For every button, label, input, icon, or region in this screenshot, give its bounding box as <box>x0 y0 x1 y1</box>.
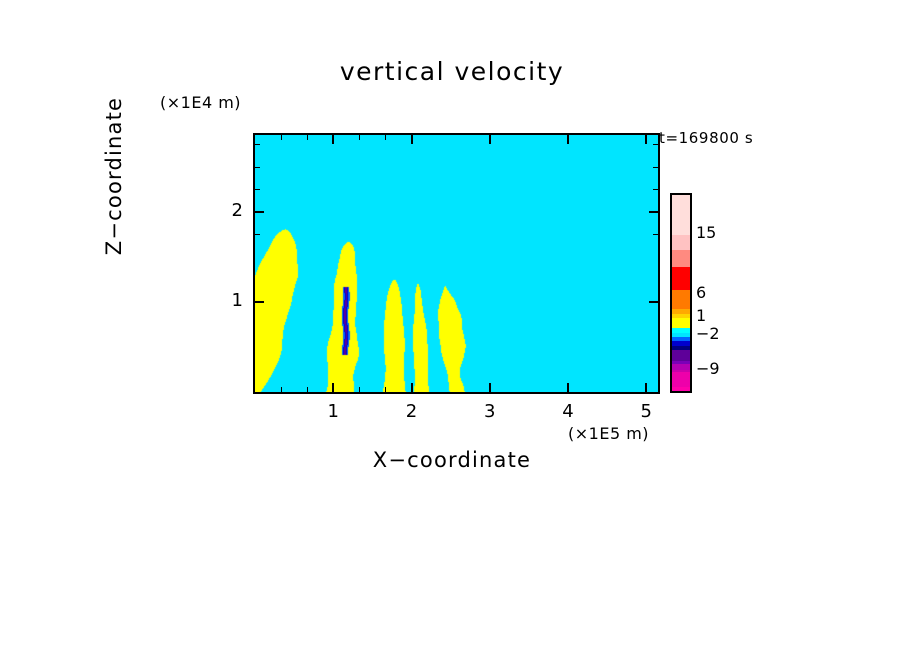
colorbar-band <box>672 372 690 387</box>
tick-mark <box>359 135 360 140</box>
colorbar-tick-label: 6 <box>696 283 706 302</box>
colorbar-band <box>672 250 690 267</box>
tick-label: 4 <box>538 401 598 422</box>
vertical-velocity-field <box>255 135 658 392</box>
tick-mark <box>653 234 658 235</box>
colorbar-tick-label: −9 <box>696 359 720 378</box>
colorbar-band <box>672 290 690 309</box>
tick-mark <box>359 387 360 392</box>
tick-mark <box>645 383 647 392</box>
colorbar-band <box>672 387 690 391</box>
tick-mark <box>649 301 658 303</box>
tick-mark <box>255 144 260 145</box>
tick-mark <box>255 167 260 168</box>
tick-mark <box>332 135 334 144</box>
tick-label: 2 <box>217 200 243 221</box>
figure-canvas: vertical velocity (×1E4 m) Z−coordinate … <box>0 0 904 654</box>
z-axis-title: Z−coordinate <box>102 76 126 276</box>
tick-mark <box>255 234 260 235</box>
colorbar-tick-label: −2 <box>696 324 720 343</box>
tick-mark <box>255 301 264 303</box>
tick-mark <box>567 383 569 392</box>
tick-mark <box>385 387 386 392</box>
tick-mark <box>281 387 282 392</box>
tick-label: 5 <box>616 401 676 422</box>
tick-mark <box>653 144 658 145</box>
tick-mark <box>411 135 413 144</box>
tick-mark <box>411 383 413 392</box>
tick-mark <box>649 211 658 213</box>
colorbar-band <box>672 195 690 235</box>
colorbar-band <box>672 267 690 290</box>
tick-label: 2 <box>382 401 442 422</box>
tick-mark <box>653 189 658 190</box>
colorbar-band <box>672 350 690 361</box>
tick-mark <box>567 135 569 144</box>
tick-mark <box>255 189 260 190</box>
x-axis-title: X−coordinate <box>0 448 904 472</box>
tick-label: 1 <box>303 401 363 422</box>
tick-mark <box>307 135 308 140</box>
tick-mark <box>645 135 647 144</box>
z-axis-unit-label: (×1E4 m) <box>160 93 241 112</box>
colorbar <box>670 193 692 393</box>
tick-mark <box>255 211 264 213</box>
tick-mark <box>385 135 386 140</box>
tick-mark <box>653 167 658 168</box>
tick-mark <box>307 387 308 392</box>
colorbar-band <box>672 235 690 250</box>
tick-mark <box>281 135 282 140</box>
page-title: vertical velocity <box>0 57 904 86</box>
colorbar-tick-label: 15 <box>696 223 716 242</box>
tick-mark <box>489 383 491 392</box>
tick-label: 1 <box>217 290 243 311</box>
colorbar-tick-label: 1 <box>696 306 706 325</box>
x-axis-unit-label: (×1E5 m) <box>568 424 649 443</box>
contour-plot-area <box>253 133 660 394</box>
tick-label: 3 <box>460 401 520 422</box>
time-stamp: t=169800 s <box>659 129 753 147</box>
tick-mark <box>332 383 334 392</box>
tick-mark <box>489 135 491 144</box>
